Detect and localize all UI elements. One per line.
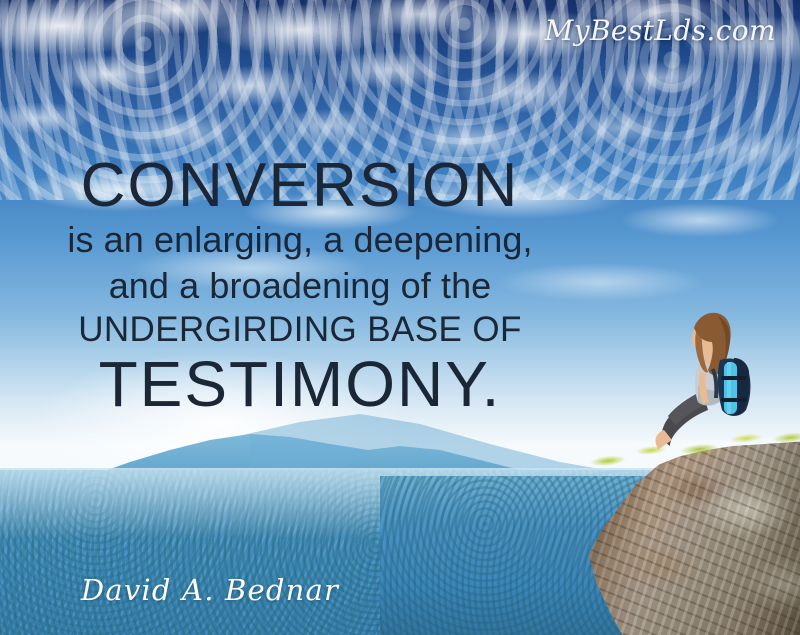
site-watermark: MyBestLds.com	[545, 14, 776, 47]
quote-line-3: and a broadening of the	[0, 263, 600, 309]
quote-line-5: TESTIMONY.	[0, 352, 600, 416]
hiker-figure	[648, 298, 756, 460]
quote-line-1: CONVERSION	[0, 156, 600, 217]
quote-line-2: is an enlarging, a deepening,	[0, 217, 600, 263]
rock-cliff	[560, 440, 800, 635]
quote-attribution: David A. Bednar	[0, 573, 420, 607]
quote-block: CONVERSION is an enlarging, a deepening,…	[0, 156, 600, 416]
quote-line-4: UNDERGIRDING BASE OF	[0, 309, 600, 352]
quote-poster: CONVERSION is an enlarging, a deepening,…	[0, 0, 800, 635]
